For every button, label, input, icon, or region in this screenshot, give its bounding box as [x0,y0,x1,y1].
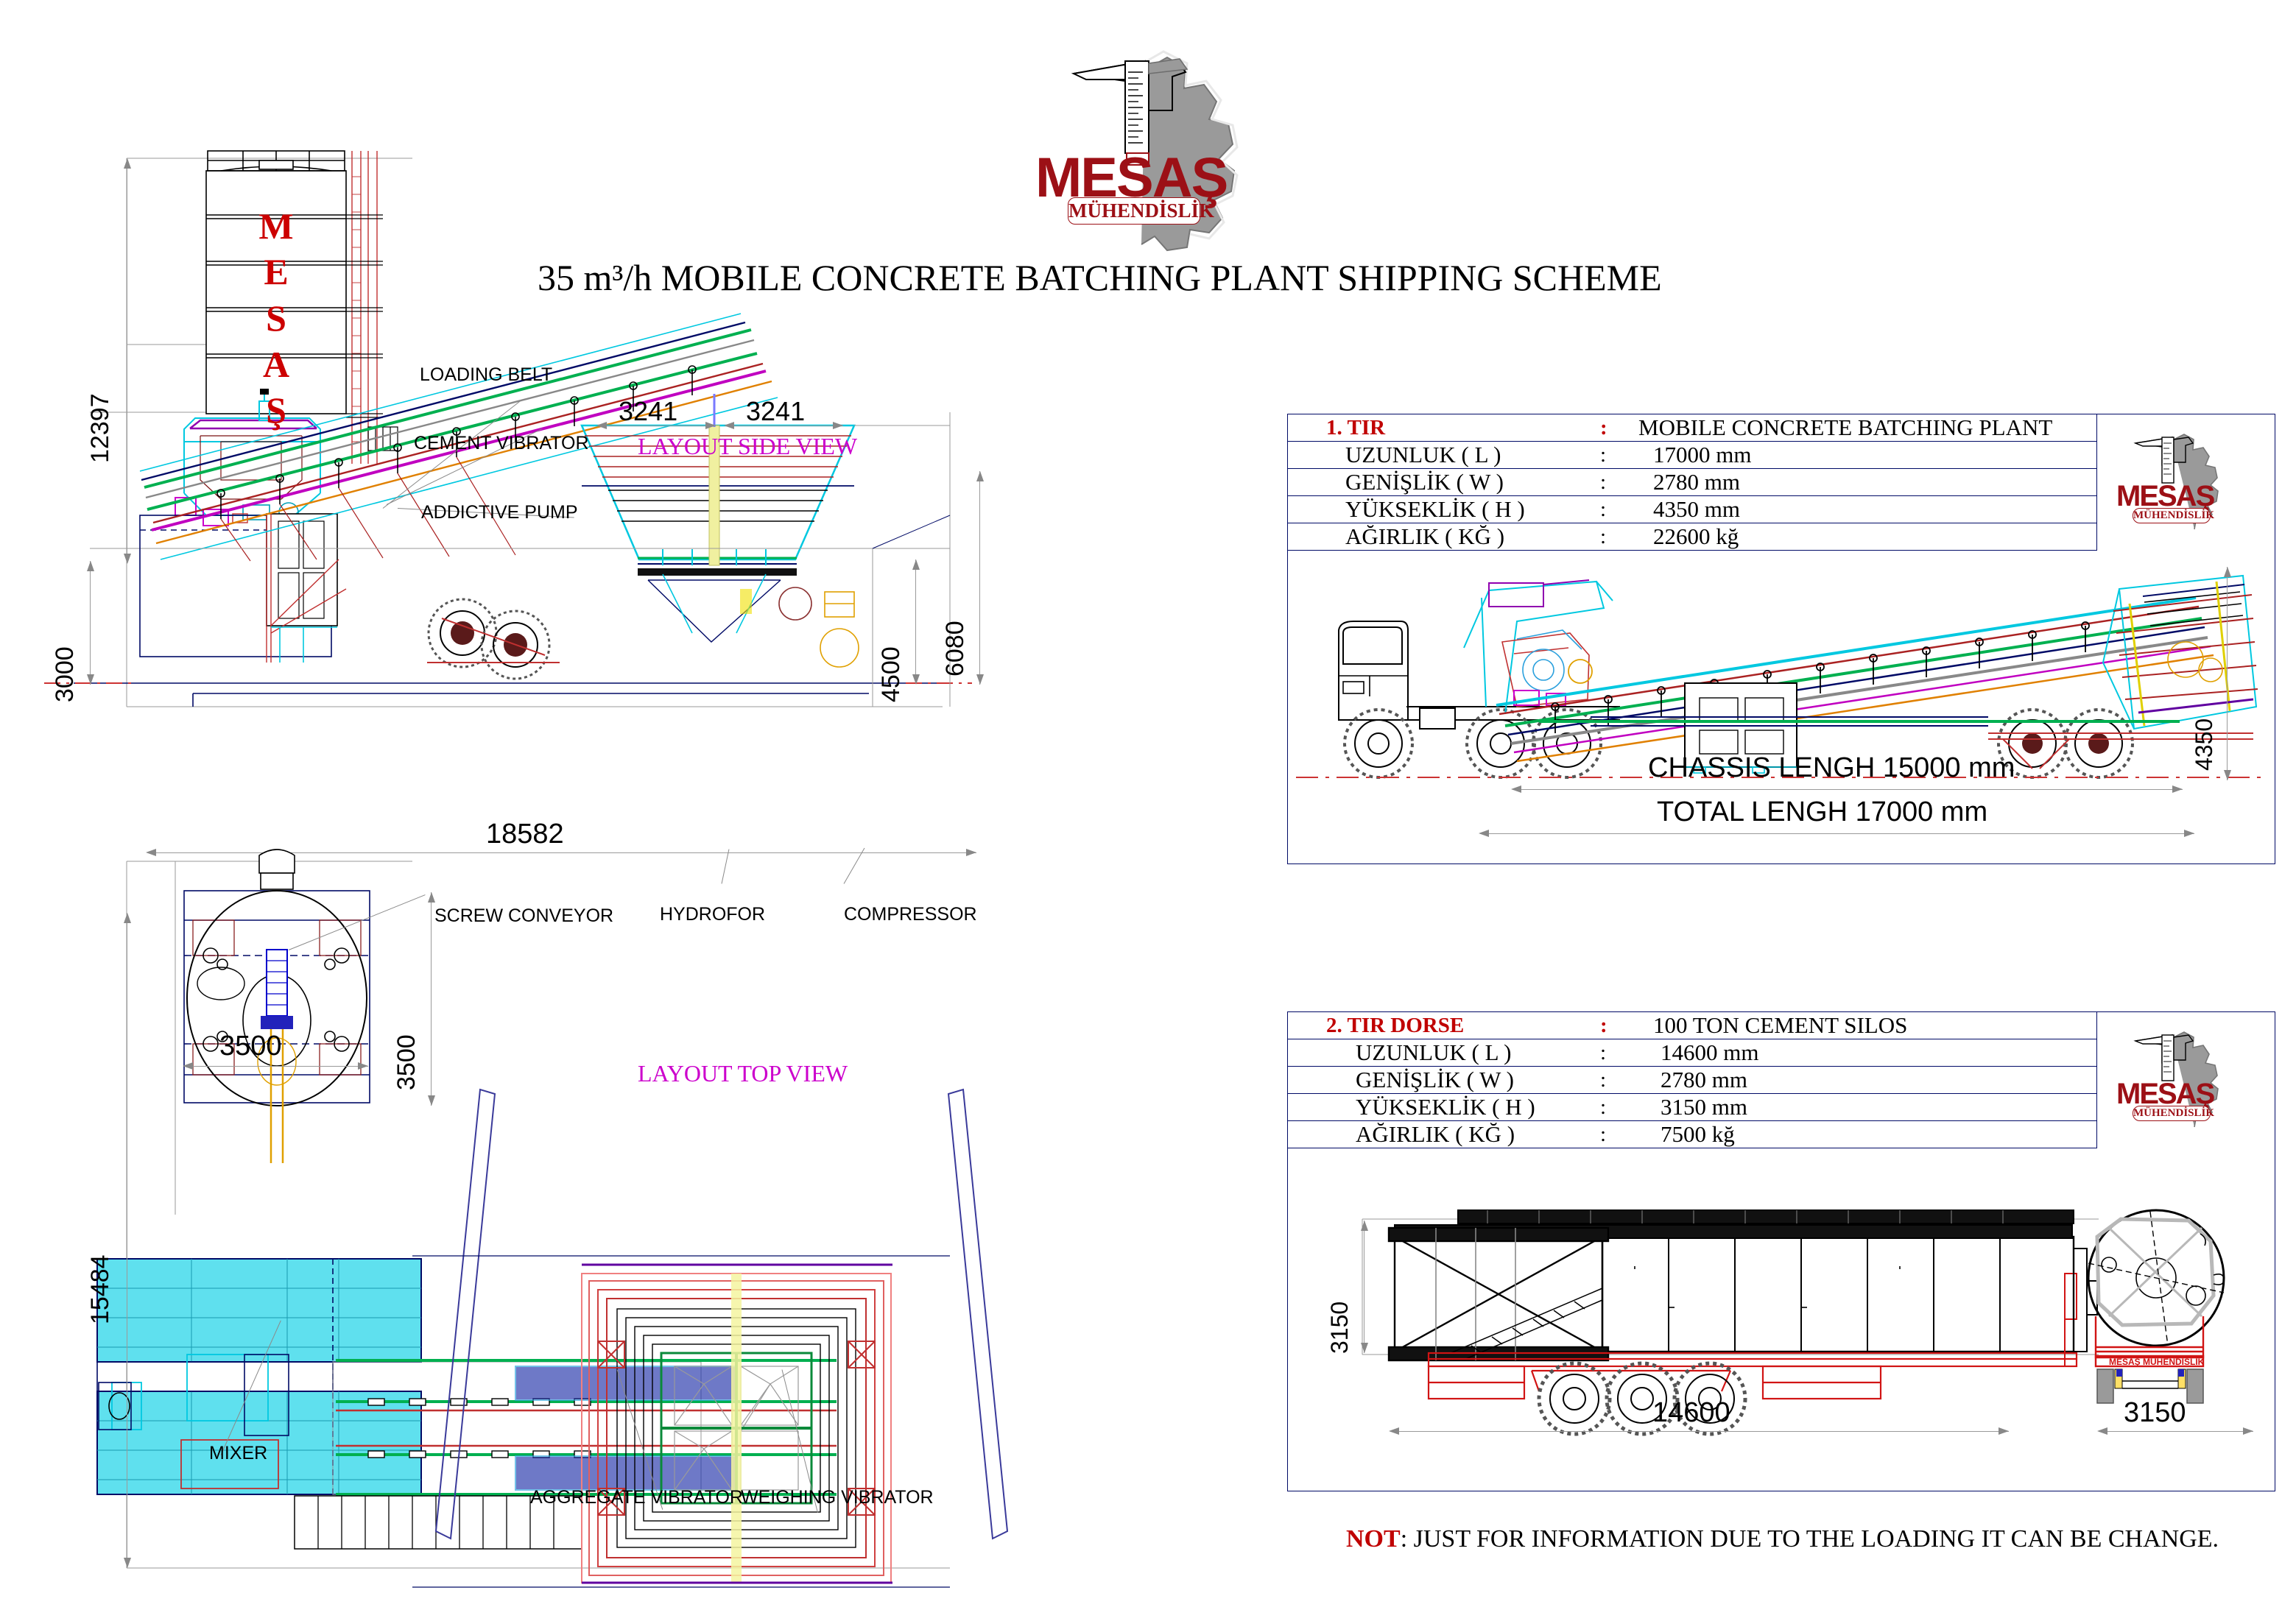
dim-arrow-down-3 [912,674,920,685]
dim-arrow-up-5 [428,892,435,903]
dim-line-trailer-height [1364,1221,1364,1353]
dim-arrow-right-7 [1999,1427,2009,1435]
truck2-row1-label: GENİŞLİK ( W ) [1288,1067,1596,1094]
note-prefix: NOT [1346,1525,1401,1553]
truck1-row1-label: GENİŞLİK ( W ) [1288,469,1596,496]
side-view-drawing [0,147,1046,847]
truck1-row1-value: 2780 mm [1634,469,2097,496]
dim-silo-depth: 3500 [392,1034,421,1090]
dim-hopper-left: 3241 [619,396,677,427]
dim-total-truck-length: TOTAL LENGH 17000 mm [1657,797,1987,828]
truck2-row1-value: 2780 mm [1634,1067,2097,1094]
dim-line-trailer-length [1390,1431,2009,1432]
truck2-row3-sep: : [1596,1121,1634,1148]
dim-arrow-down-8 [1361,1343,1368,1353]
truck1-row2-label: YÜKSEKLİK ( H ) [1288,496,1596,523]
table-row: 1. TIR : MOBILE CONCRETE BATCHING PLANT [1288,414,2097,442]
truck2-row2-value: 3150 mm [1634,1094,2097,1121]
dim-truck1-height: 4350 [2191,718,2218,771]
dim-arrow-left-7 [1389,1427,1399,1435]
truck1-row2-sep: : [1596,496,1634,523]
dim-line-base-height [90,561,91,685]
dim-line-truck1-height [2227,567,2228,780]
truck2-row3-label: AĞIRLIK ( KĞ ) [1288,1121,1596,1148]
dim-overall-height: 6080 [941,621,970,677]
table-row: AĞIRLIK ( KĞ ) : 7500 kğ [1288,1121,2097,1148]
dim-silo-height: 12397 [86,393,115,463]
callout-addictive-pump: ADDICTIVE PUMP [421,502,578,523]
dim-line-overall-height [979,471,980,685]
truck2-row1-sep: : [1596,1067,1634,1094]
dim-rear-width: 3150 [2124,1397,2186,1429]
table-row: UZUNLUK ( L ) : 14600 mm [1288,1039,2097,1067]
callout-screw-conveyor: SCREW CONVEYOR [434,905,613,927]
callout-loading-belt: LOADING BELT [420,364,552,386]
dim-arrow-left-6 [1479,830,1489,837]
dim-line-total-width [127,913,127,1568]
truck1-logo: MESAŞ MÜHENDİSLİK [2110,424,2265,542]
dim-arrow-up [124,158,131,169]
dim-arrow-left [596,422,607,429]
dim-hopper-height: 4500 [877,646,906,702]
truck1-row3-value: 22600 kğ [1634,523,2097,551]
dim-arrow-down-2 [87,674,94,685]
dim-arrow-up-7 [2224,567,2231,577]
dim-line-hopper-height [915,559,916,683]
truck2-header-value: 100 TON CEMENT SILOS [1634,1012,2097,1039]
truck1-row1-sep: : [1596,469,1634,496]
silo-letter-1: M [254,205,298,247]
table-row: YÜKSEKLİK ( H ) : 4350 mm [1288,496,2097,523]
truck1-row2-value: 4350 mm [1634,496,2097,523]
dim-arrow-up-2 [87,561,94,571]
table-row: 2. TIR DORSE : 100 TON CEMENT SILOS [1288,1012,2097,1039]
dim-arrow-up-4 [976,471,984,481]
truck2-row0-label: UZUNLUK ( L ) [1288,1039,1596,1067]
truck2-row2-label: YÜKSEKLİK ( H ) [1288,1094,1596,1121]
callout-cement-vibrator: CEMENT VIBRATOR [414,433,589,454]
truck2-row2-sep: : [1596,1094,1634,1121]
table-row: GENİŞLİK ( W ) : 2780 mm [1288,469,2097,496]
dim-line-silo-width [184,1066,368,1067]
callout-mixer: MIXER [209,1443,267,1464]
dim-line-silo-height [127,158,127,563]
dim-silo-width: 3500 [219,1031,282,1062]
table-row: UZUNLUK ( L ) : 17000 mm [1288,442,2097,469]
truck1-row0-value: 17000 mm [1634,442,2097,469]
dim-arrow-up-3 [912,559,920,570]
dim-line-chassis [1513,789,2183,790]
truck2-header-label: 2. TIR DORSE [1288,1012,1596,1039]
truck2-logo: MESAŞ MÜHENDİSLİK [2110,1022,2265,1140]
silo-letter-3: S [254,297,298,339]
dim-arrow-right-4 [358,1062,368,1070]
truck2-header-sep: : [1596,1012,1634,1039]
dim-chassis-length: CHASSIS LENGH 15000 mm [1648,752,2015,784]
logo-subtitle: MÜHENDİSLİK [1068,197,1200,225]
dim-arrow-up-8 [1361,1221,1368,1231]
dim-arrow-down-4 [976,674,984,685]
dim-arrow-right-6 [2184,830,2194,837]
truck2-spec-table: 2. TIR DORSE : 100 TON CEMENT SILOS UZUN… [1287,1011,2097,1148]
company-logo: MESAŞ MÜHENDİSLİK [1016,29,1340,250]
dim-arrow-down-5 [428,1095,435,1106]
dim-trailer-length: 14600 [1652,1397,1730,1429]
dim-hopper-right: 3241 [746,396,805,427]
table-row: AĞIRLIK ( KĞ ) : 22600 kğ [1288,523,2097,551]
dim-arrow-down-6 [124,1558,131,1568]
truck2-logo-subtitle: MÜHENDİSLİK [2133,1106,2211,1121]
dim-total-length: 18582 [486,819,564,850]
silo-letter-4: A [254,343,298,386]
truck1-header-label: 1. TIR [1288,414,1596,442]
dim-arrow-left-2 [724,422,734,429]
truck1-row3-sep: : [1596,523,1634,551]
callout-aggregate-vibrator: AGGREGATE VIBRATOR [530,1487,743,1508]
silo-letter-5: Ş [254,389,298,431]
top-view-label: LAYOUT TOP VIEW [638,1060,848,1087]
dim-arrow-right [705,422,716,429]
dim-arrow-left-8 [2097,1427,2107,1435]
dim-arrow-left-4 [183,1062,193,1070]
table-row: YÜKSEKLİK ( H ) : 3150 mm [1288,1094,2097,1121]
dim-line-rear-width [2099,1431,2253,1432]
truck1-header-sep: : [1596,414,1634,442]
footer-note: NOT: JUST FOR INFORMATION DUE TO THE LOA… [1346,1525,2219,1553]
dim-arrow-right-5 [2172,785,2183,793]
truck1-header-value: MOBILE CONCRETE BATCHING PLANT [1634,414,2097,442]
callout-weighing-vibrator: WEIGHING VIBRATOR [741,1487,934,1508]
silo-letter-2: E [254,250,298,293]
dim-arrow-left-5 [1511,785,1521,793]
truck2-row0-sep: : [1596,1039,1634,1067]
callout-hydrofor: HYDROFOR [660,904,765,925]
dim-line-total [1480,833,2194,834]
dim-total-width: 15484 [86,1254,115,1324]
dim-line-silo-depth [431,892,432,1106]
truck1-row0-label: UZUNLUK ( L ) [1288,442,1596,469]
dim-arrow-up-6 [124,913,131,923]
truck1-spec-table: 1. TIR : MOBILE CONCRETE BATCHING PLANT … [1287,414,2097,551]
dim-arrow-right-2 [833,422,843,429]
trailer-decal-text: MESAŞ MÜHENDİSLİK [2109,1356,2205,1367]
truck1-logo-subtitle: MÜHENDİSLİK [2133,508,2211,523]
side-view-label: LAYOUT SIDE VIEW [638,433,857,460]
dim-trailer-height: 3150 [1326,1302,1353,1354]
dim-base-height: 3000 [51,646,80,702]
callout-compressor: COMPRESSOR [844,904,977,925]
dim-arrow-down-7 [2224,770,2231,780]
truck1-row0-sep: : [1596,442,1634,469]
note-text: : JUST FOR INFORMATION DUE TO THE LOADIN… [1401,1525,2219,1553]
dim-arrow-right-8 [2243,1427,2253,1435]
dim-arrow-down [124,554,131,564]
table-row: GENİŞLİK ( W ) : 2780 mm [1288,1067,2097,1094]
truck2-row3-value: 7500 kğ [1634,1121,2097,1148]
truck1-row3-label: AĞIRLIK ( KĞ ) [1288,523,1596,551]
truck2-row0-value: 14600 mm [1634,1039,2097,1067]
